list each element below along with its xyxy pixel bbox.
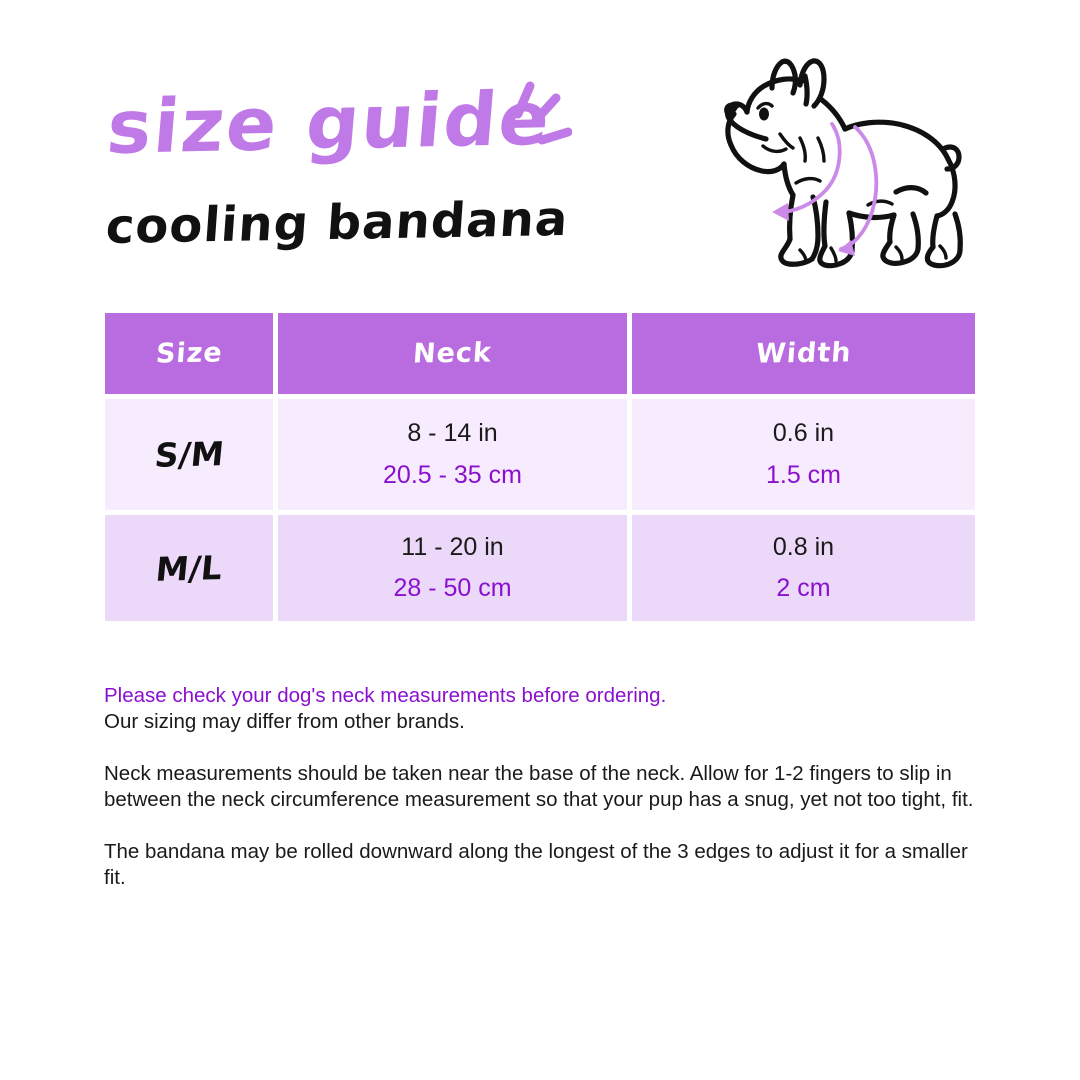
width-inches-value: 0.6 in	[773, 420, 834, 448]
page-subtitle: cooling bandana	[104, 190, 570, 256]
column-header-neck: Neck	[278, 313, 627, 394]
table-row: S/M 8 - 14 in 20.5 - 35 cm 0.6 in 1.5 cm	[105, 399, 975, 510]
column-header-neck-label: Neck	[412, 337, 493, 369]
table-header-row: Size Neck Width	[105, 313, 975, 394]
width-inches-value: 0.8 in	[773, 534, 834, 562]
table-row: M/L 11 - 20 in 28 - 50 cm 0.8 in 2 cm	[105, 515, 975, 621]
size-guide-page: size guide cooling bandana	[0, 0, 1080, 1080]
spacer	[104, 735, 976, 761]
notes-section: Please check your dog's neck measurement…	[104, 683, 976, 891]
spacer	[104, 813, 976, 839]
column-header-size-label: Size	[154, 338, 223, 370]
column-header-width-label: Width	[755, 337, 853, 369]
page-header: size guide cooling bandana	[0, 0, 1080, 290]
cell-neck: 8 - 14 in 20.5 - 35 cm	[278, 399, 627, 510]
size-label: M/L	[154, 548, 224, 589]
neck-inches-value: 11 - 20 in	[401, 534, 503, 562]
neck-cm-value: 28 - 50 cm	[393, 575, 511, 603]
french-bulldog-measurement-illustration	[700, 42, 980, 287]
note-paragraph-1: Neck measurements should be taken near t…	[104, 761, 976, 813]
size-chart-table: Size Neck Width S/M 8 - 14 in 20.5 - 35 …	[105, 313, 975, 621]
sparkle-lines-icon	[492, 78, 572, 164]
cell-neck: 11 - 20 in 28 - 50 cm	[278, 515, 627, 621]
column-header-width: Width	[632, 313, 975, 394]
cell-size: S/M	[105, 399, 273, 510]
size-label: S/M	[153, 434, 226, 475]
note-highlight: Please check your dog's neck measurement…	[104, 683, 976, 709]
width-cm-value: 2 cm	[776, 575, 830, 603]
cell-width: 0.6 in 1.5 cm	[632, 399, 975, 510]
neck-cm-value: 20.5 - 35 cm	[383, 462, 522, 490]
column-header-size: Size	[105, 313, 273, 394]
note-subline: Our sizing may differ from other brands.	[104, 709, 976, 735]
cell-size: M/L	[105, 515, 273, 621]
note-paragraph-2: The bandana may be rolled downward along…	[104, 839, 976, 891]
cell-width: 0.8 in 2 cm	[632, 515, 975, 621]
width-cm-value: 1.5 cm	[766, 462, 841, 490]
neck-inches-value: 8 - 14 in	[407, 420, 497, 448]
